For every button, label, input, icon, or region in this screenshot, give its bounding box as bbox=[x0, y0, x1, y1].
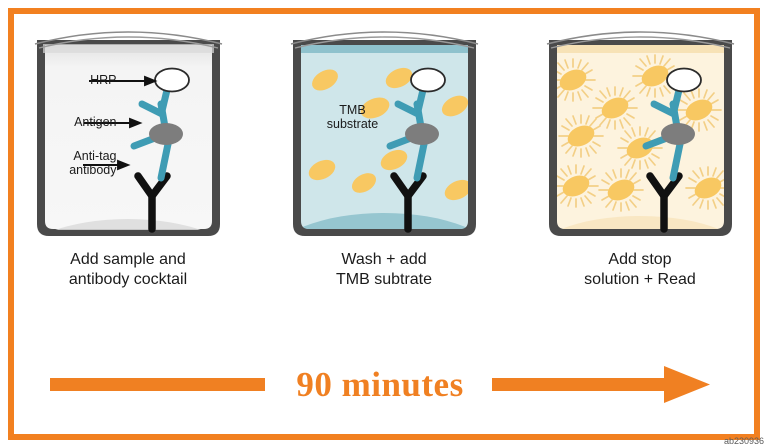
label-hrp: HRP bbox=[49, 73, 117, 87]
well-step-1: HRP Antigen Anti-tag antibody bbox=[21, 18, 236, 243]
antigen-glyph bbox=[661, 123, 695, 145]
hrp-glyph bbox=[667, 69, 701, 92]
figure-root: HRP Antigen Anti-tag antibody bbox=[0, 0, 768, 448]
hrp-glyph bbox=[155, 69, 189, 92]
caption-step-1: Add sample and antibody cocktail bbox=[21, 250, 236, 290]
captions-row: Add sample and antibody cocktail Wash + … bbox=[0, 250, 768, 312]
watermark: ab230936 bbox=[724, 436, 764, 446]
wells-row: HRP Antigen Anti-tag antibody bbox=[0, 18, 768, 248]
well-1-graphic bbox=[21, 18, 236, 243]
label-antigen: Antigen bbox=[31, 115, 117, 129]
timeline: 90 minutes bbox=[30, 355, 730, 415]
caption-step-2: Wash + add TMB subtrate bbox=[277, 250, 492, 290]
caption-step-3: Add stop solution + Read bbox=[533, 250, 748, 290]
timeline-label: 90 minutes bbox=[30, 365, 730, 405]
well-top-shading bbox=[43, 44, 215, 53]
label-tmb-substrate: TMB substrate bbox=[307, 103, 399, 131]
hrp-glyph bbox=[411, 69, 445, 92]
antigen-glyph bbox=[405, 123, 439, 145]
well-step-3 bbox=[533, 18, 748, 243]
antigen-glyph bbox=[149, 123, 183, 145]
well-3-graphic bbox=[533, 18, 748, 243]
well-step-2: TMB substrate bbox=[277, 18, 492, 243]
label-anti-tag-antibody: Anti-tag antibody bbox=[29, 149, 117, 177]
